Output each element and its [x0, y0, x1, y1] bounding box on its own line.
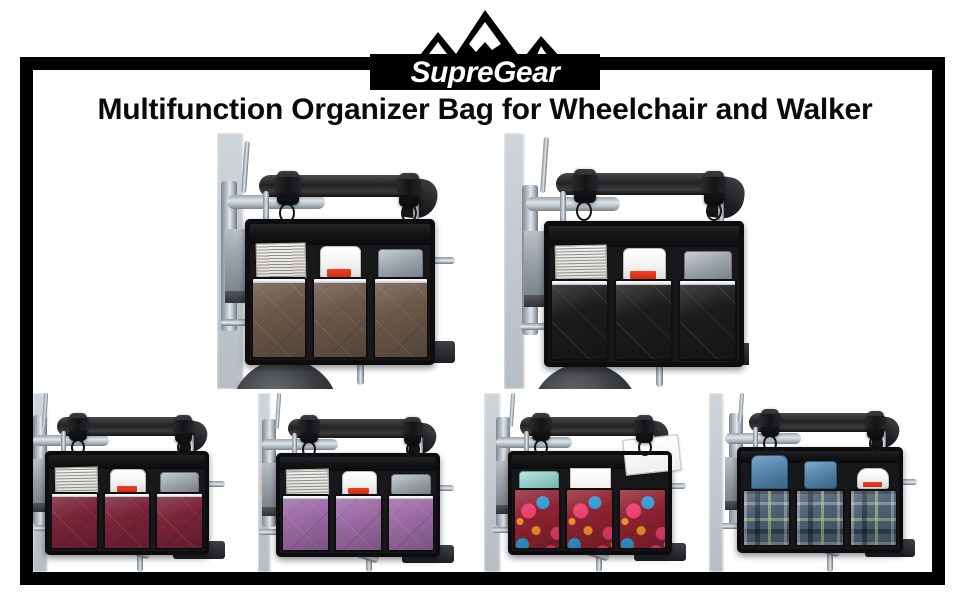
bag-hook-left: [534, 439, 548, 456]
wheelchair-scene: [217, 133, 462, 389]
wheelchair-scene: [258, 393, 481, 572]
bag-hook-left: [279, 203, 295, 223]
organizer-bag[interactable]: [276, 453, 440, 557]
bag-contents: [552, 247, 736, 283]
bag-strap-band-right: [865, 416, 886, 429]
bag-strap-band-left: [67, 418, 89, 431]
organizer-bag[interactable]: [45, 451, 209, 555]
product-photo-black[interactable]: [504, 133, 749, 389]
bag-strap-band-right: [173, 420, 194, 433]
bag-pockets: [513, 488, 667, 550]
bag-pocket-2[interactable]: [614, 279, 673, 361]
bag-pocket-2[interactable]: [312, 277, 368, 359]
wheelchair-push-handle: [275, 393, 282, 429]
bag-item-white-box: [313, 245, 367, 281]
bag-item-blue-folder: [744, 457, 791, 489]
bag-pocket-3[interactable]: [373, 277, 429, 359]
bag-pocket-2[interactable]: [103, 492, 152, 550]
bag-contents: [744, 457, 896, 489]
bag-pocket-1[interactable]: [550, 279, 609, 361]
bag-pocket-2[interactable]: [565, 488, 614, 550]
organizer-bag[interactable]: [544, 221, 744, 367]
bag-strap-band-left: [275, 177, 301, 193]
background-blur: [709, 393, 723, 572]
bag-item-blue-phone: [796, 457, 843, 489]
bag-item-white-box: [615, 247, 672, 283]
gallery-bottom-row: [33, 393, 932, 572]
wheelchair-seat-rail: [227, 195, 325, 209]
bag-strap-band-right: [402, 422, 423, 435]
bag-top-trim: [544, 221, 744, 247]
bag-item-white-cup: [849, 457, 896, 489]
bag-strap-band-left: [572, 175, 598, 191]
bag-hook-left: [71, 439, 85, 456]
bag-pocket-3[interactable]: [678, 279, 737, 361]
wheelchair-seat-rail: [526, 197, 620, 211]
background-blur: [504, 133, 524, 389]
wheelchair-push-handle: [42, 393, 48, 427]
wheelchair-scene: [484, 393, 707, 572]
page-title: Multifunction Organizer Bag for Wheelcha…: [0, 93, 970, 127]
bag-item-newspaper: [253, 245, 307, 281]
bag-strap-band-left: [759, 414, 781, 427]
bag-item-phone: [373, 245, 427, 281]
bag-pockets: [550, 279, 738, 361]
bag-pocket-3[interactable]: [387, 494, 436, 552]
product-banner: SupreGear Multifunction Organizer Bag fo…: [0, 0, 970, 600]
bag-strap-band-right: [397, 179, 421, 195]
bag-pocket-2[interactable]: [795, 489, 844, 547]
bag-pockets: [742, 489, 898, 547]
bag-pocket-1[interactable]: [281, 494, 330, 552]
bag-item-phone: [678, 247, 735, 283]
bag-strap-band-right: [702, 177, 726, 193]
organizer-bag[interactable]: [737, 447, 903, 553]
wheelchair-scene: [709, 393, 932, 572]
product-photo-purple[interactable]: [258, 393, 481, 572]
wheelchair-push-handle: [738, 393, 744, 423]
product-photo-burgundy[interactable]: [33, 393, 256, 572]
wheelchair-push-handle: [540, 137, 549, 193]
wheelchair-scene: [33, 393, 256, 572]
bag-pocket-1[interactable]: [742, 489, 791, 547]
brand-wordmark: SupreGear: [411, 56, 563, 89]
product-photo-brown[interactable]: [217, 133, 462, 389]
bag-top-trim: [245, 219, 435, 245]
bag-pockets: [251, 277, 429, 359]
mountain-logo-icon: SupreGear: [370, 6, 600, 90]
bag-item-newspaper: [552, 247, 609, 283]
bag-strap-band-left: [298, 420, 320, 433]
bag-pocket-1[interactable]: [251, 277, 307, 359]
wheelchair-push-handle: [508, 393, 514, 427]
bag-contents: [253, 245, 427, 281]
bag-pocket-1[interactable]: [50, 492, 99, 550]
bag-pocket-3[interactable]: [618, 488, 667, 550]
organizer-bag[interactable]: [245, 219, 435, 365]
product-photo-floral[interactable]: [484, 393, 707, 572]
bag-pockets: [50, 492, 204, 550]
bag-hook-left: [576, 201, 592, 221]
bag-pocket-3[interactable]: [849, 489, 898, 547]
wheelchair-scene: [504, 133, 749, 389]
brand-logo: SupreGear: [370, 6, 600, 90]
bag-pockets: [281, 494, 435, 552]
bag-pocket-1[interactable]: [513, 488, 562, 550]
bag-strap-band-right: [634, 420, 655, 433]
product-photo-plaid[interactable]: [709, 393, 932, 572]
bag-pocket-2[interactable]: [334, 494, 383, 552]
bag-hook-left: [763, 435, 777, 452]
gallery-top-row: [33, 133, 932, 391]
bag-pocket-3[interactable]: [155, 492, 204, 550]
bag-strap-band-left: [530, 418, 552, 431]
